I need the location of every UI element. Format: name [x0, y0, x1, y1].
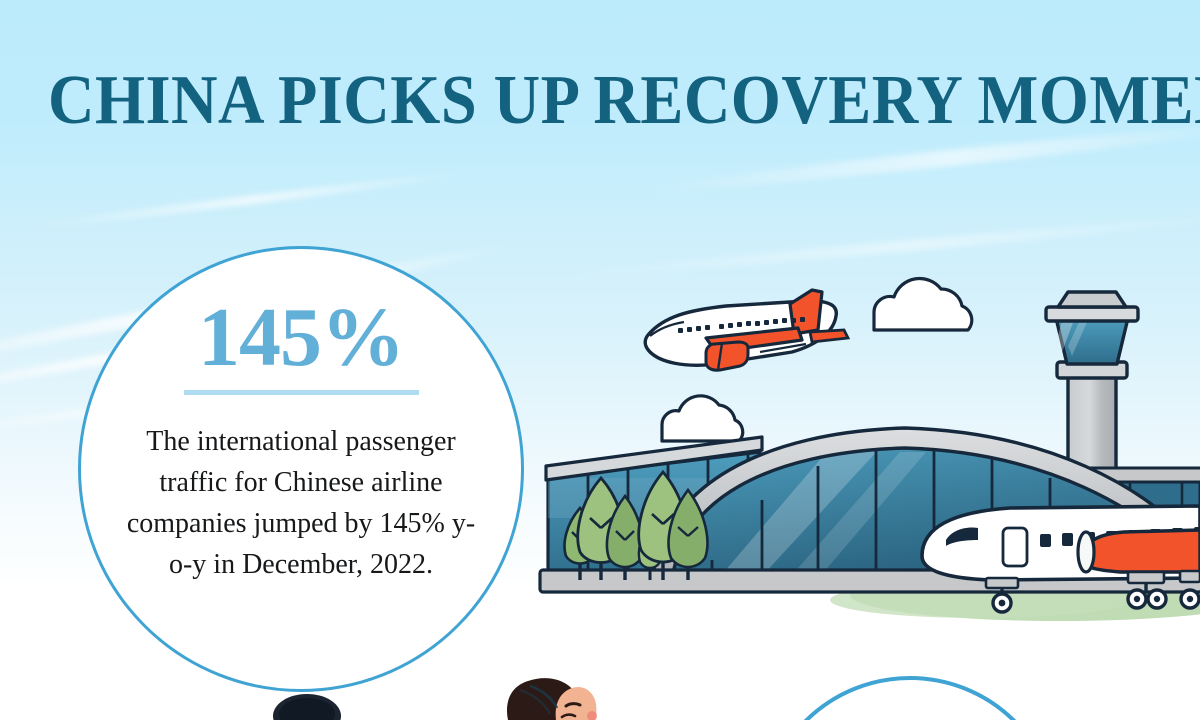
traveler-head-left: [273, 694, 341, 720]
infographic-canvas: 145% The international passenger traffic…: [0, 0, 1200, 720]
traveler-head-right: [507, 678, 597, 720]
travelers-group: [0, 0, 1200, 720]
